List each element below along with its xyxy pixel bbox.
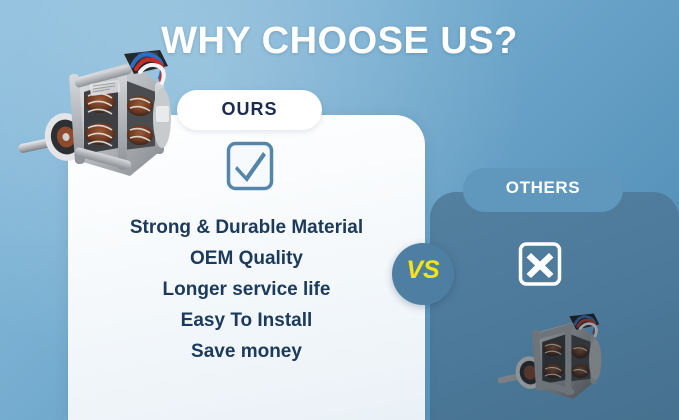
versus-label: VS xyxy=(392,256,454,285)
ours-tab-label: OURS xyxy=(177,99,322,120)
list-item: Save money xyxy=(68,336,425,367)
checkbox-check-icon xyxy=(226,140,274,192)
list-item: Strong & Durable Material xyxy=(68,212,425,243)
checkbox-cross-icon xyxy=(518,241,562,287)
list-item: OEM Quality xyxy=(68,243,425,274)
list-item: Longer service life xyxy=(68,274,425,305)
others-tab-label: OTHERS xyxy=(463,178,623,198)
why-choose-us-graphic: WHY CHOOSE US? OTHERS OURS Strong & Dura… xyxy=(0,0,679,420)
list-item: Easy To Install xyxy=(68,305,425,336)
ours-feature-list: Strong & Durable Material OEM Quality Lo… xyxy=(68,212,425,367)
product-image-main xyxy=(14,36,174,198)
product-image-other xyxy=(488,304,610,414)
